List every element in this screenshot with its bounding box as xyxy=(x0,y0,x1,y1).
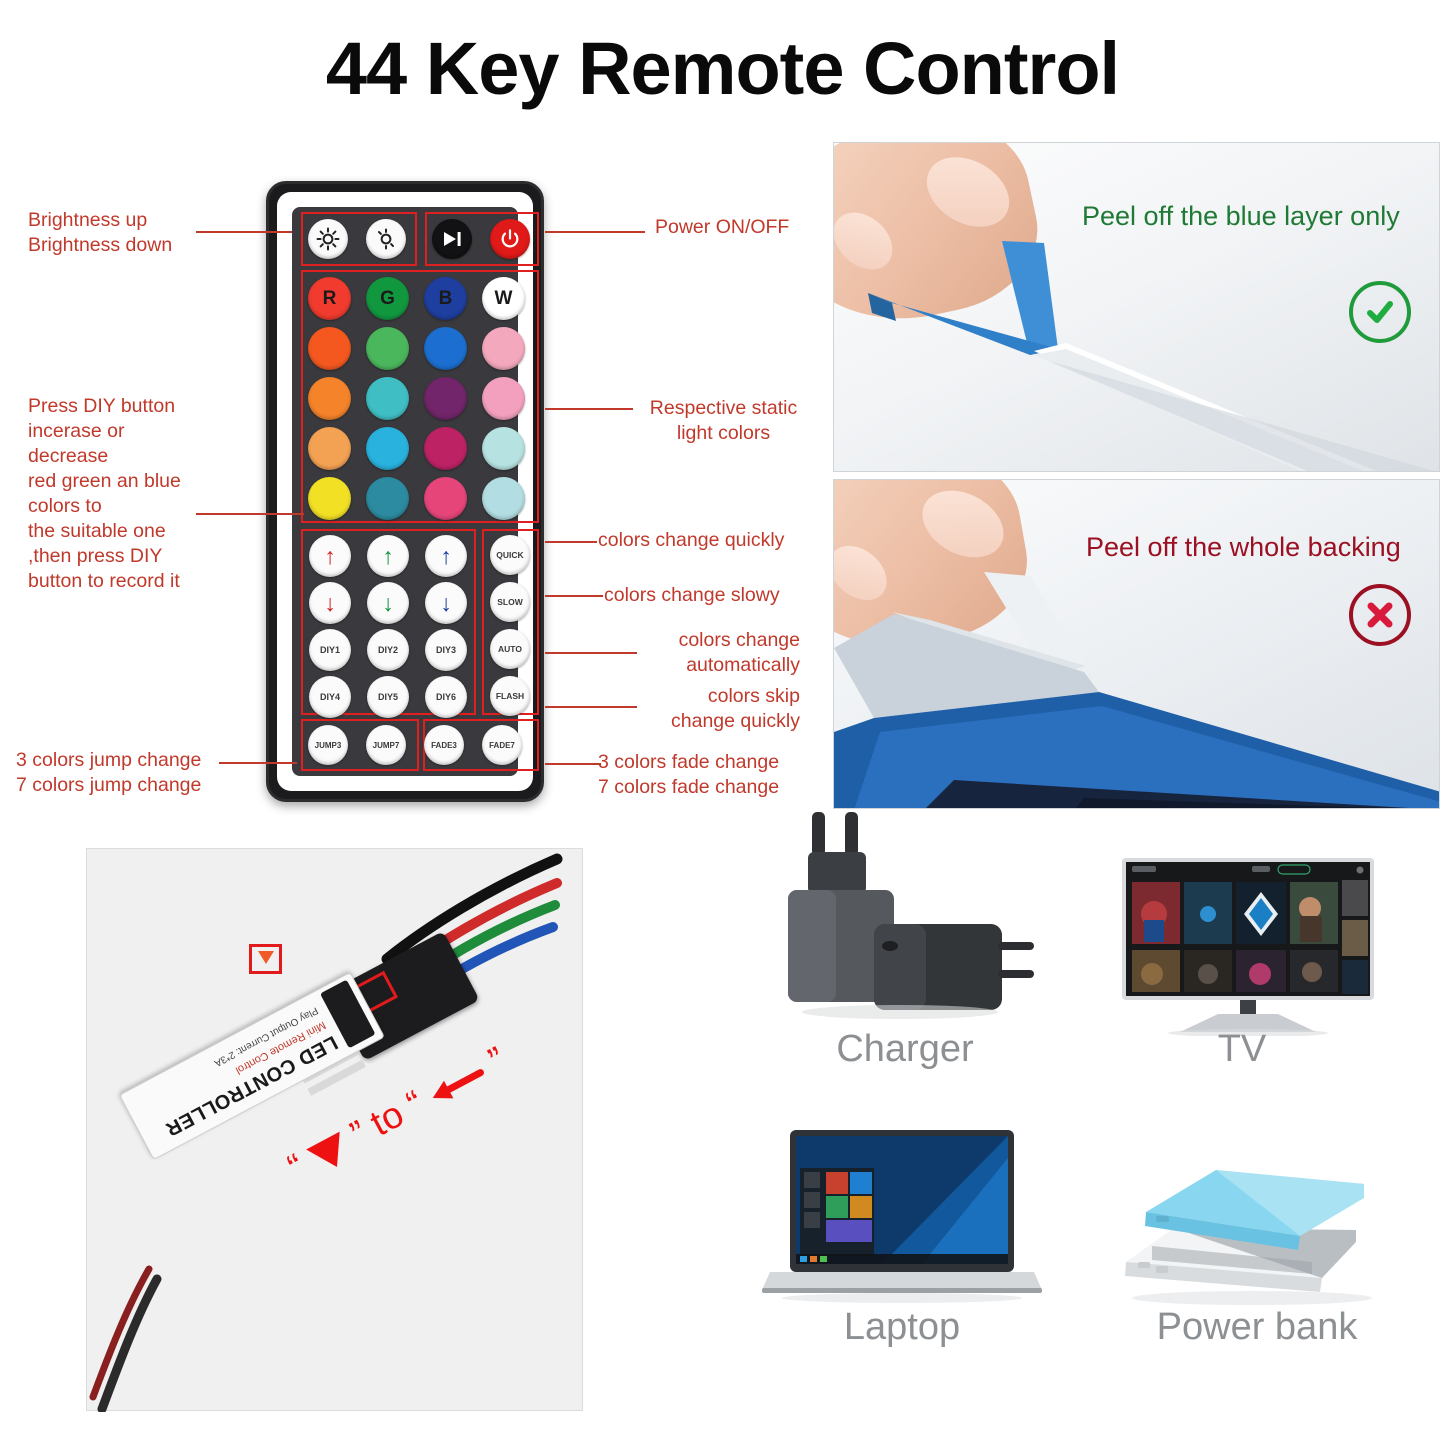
annotation-power: Power ON/OFF xyxy=(655,215,789,240)
panel-caption-blue: Peel off the blue layer only xyxy=(1082,201,1400,232)
color-button-r3c3[interactable] xyxy=(424,377,467,420)
remote-keypad-face: RGBW ↑↑↑↓↓↓DIY1DIY2DIY3DIY4DIY5DIY6 QUIC… xyxy=(292,207,518,776)
mode-button-slow[interactable]: SLOW xyxy=(490,582,530,622)
arrow-button-up-3[interactable]: ↑ xyxy=(425,535,467,577)
color-button-r4c4[interactable] xyxy=(482,427,525,470)
annotation-static: Respective static light colors xyxy=(636,396,811,446)
remote-inner-frame: RGBW ↑↑↑↓↓↓DIY1DIY2DIY3DIY4DIY5DIY6 QUIC… xyxy=(277,192,533,791)
device-label-laptop: Laptop xyxy=(762,1306,1042,1349)
arrow-down-icon: ↓ xyxy=(382,592,394,615)
diy-button-diy1[interactable]: DIY1 xyxy=(309,629,351,671)
leader-flash xyxy=(545,706,637,708)
leader-diy xyxy=(196,513,304,515)
annotation-auto: colors change automatically xyxy=(620,628,800,678)
device-label-powerbank: Power bank xyxy=(1112,1306,1402,1349)
color-button-r[interactable]: R xyxy=(308,277,351,320)
play-pause-icon xyxy=(441,229,463,249)
mode-button-auto[interactable]: AUTO xyxy=(490,629,530,669)
brightness-up-button[interactable] xyxy=(308,219,348,259)
color-button-r4c3[interactable] xyxy=(424,427,467,470)
mode-button-fade3[interactable]: FADE3 xyxy=(424,725,464,765)
arrow-up-icon: ↑ xyxy=(440,545,452,568)
device-label-tv: TV xyxy=(1092,1028,1392,1071)
leader-auto xyxy=(545,652,637,654)
arrow-button-down-2[interactable]: ↓ xyxy=(367,582,409,624)
diy-button-diy3[interactable]: DIY3 xyxy=(425,629,467,671)
color-button-r2c1[interactable] xyxy=(308,327,351,370)
mode-button-flash[interactable]: FLASH xyxy=(490,676,530,716)
color-button-g[interactable]: G xyxy=(366,277,409,320)
diy-button-diy2[interactable]: DIY2 xyxy=(367,629,409,671)
color-button-r3c4[interactable] xyxy=(482,377,525,420)
mode-button-jump7[interactable]: JUMP7 xyxy=(366,725,406,765)
leader-static xyxy=(545,408,633,410)
arrow-down-icon: ↓ xyxy=(440,592,452,615)
check-mark-icon xyxy=(1349,281,1411,343)
leader-slow xyxy=(545,595,603,597)
annotation-flash: colors skip change quickly xyxy=(620,684,800,734)
leader-jump xyxy=(219,762,297,764)
color-button-label: W xyxy=(495,288,513,310)
diy-button-diy6[interactable]: DIY6 xyxy=(425,676,467,718)
arrow-button-up-1[interactable]: ↑ xyxy=(309,535,351,577)
annotation-quick: colors change quickly xyxy=(598,528,784,553)
leader-power xyxy=(545,231,645,233)
color-button-r3c2[interactable] xyxy=(366,377,409,420)
brightness-down-button[interactable] xyxy=(366,219,406,259)
whole-backing-graphic xyxy=(834,480,1440,809)
peel-blue-layer-panel: Peel off the blue layer only xyxy=(833,142,1440,472)
color-button-b[interactable]: B xyxy=(424,277,467,320)
mode-button-fade7[interactable]: FADE7 xyxy=(482,725,522,765)
infographic-page: 44 Key Remote Control xyxy=(0,0,1445,1445)
arrow-up-icon: ↑ xyxy=(382,545,394,568)
color-button-r2c2[interactable] xyxy=(366,327,409,370)
color-button-r4c1[interactable] xyxy=(308,427,351,470)
leader-quick xyxy=(545,541,597,543)
color-button-r2c4[interactable] xyxy=(482,327,525,370)
play-pause-button[interactable] xyxy=(432,219,472,259)
power-bank-image xyxy=(1112,1150,1402,1310)
arrow-down-icon: ↓ xyxy=(324,592,336,615)
color-button-r5c1[interactable] xyxy=(308,477,351,520)
color-button-r2c3[interactable] xyxy=(424,327,467,370)
power-button[interactable] xyxy=(490,219,530,259)
remote-control: RGBW ↑↑↑↓↓↓DIY1DIY2DIY3DIY4DIY5DIY6 QUIC… xyxy=(266,181,544,802)
laptop-image xyxy=(762,1128,1042,1304)
leader-fade xyxy=(545,763,601,765)
leader-brightness xyxy=(196,231,292,233)
brightness-down-icon xyxy=(374,227,398,251)
arrow-button-up-2[interactable]: ↑ xyxy=(367,535,409,577)
color-button-r5c2[interactable] xyxy=(366,477,409,520)
color-button-w[interactable]: W xyxy=(482,277,525,320)
color-button-label: B xyxy=(439,288,453,310)
cross-mark-icon xyxy=(1349,584,1411,646)
color-button-r4c2[interactable] xyxy=(366,427,409,470)
diy-button-diy4[interactable]: DIY4 xyxy=(309,676,351,718)
annotation-diy: Press DIY button incerase or decrease re… xyxy=(28,394,268,594)
arrow-button-down-1[interactable]: ↓ xyxy=(309,582,351,624)
brightness-up-icon xyxy=(316,227,340,251)
charger-image xyxy=(770,812,1040,1020)
device-label-charger: Charger xyxy=(770,1028,1040,1071)
diy-button-diy5[interactable]: DIY5 xyxy=(367,676,409,718)
mode-button-quick[interactable]: QUICK xyxy=(490,535,530,575)
annotation-brightness: Brightness up Brightness down xyxy=(28,208,258,258)
annotation-jump: 3 colors jump change 7 colors jump chang… xyxy=(16,748,266,798)
power-icon xyxy=(499,228,521,250)
peel-whole-backing-panel: Peel off the whole backing xyxy=(833,479,1440,809)
tv-image xyxy=(1092,856,1392,1036)
annotation-slow: colors change slowy xyxy=(604,583,780,608)
ir-led-triangle-icon xyxy=(258,951,274,964)
color-button-label: G xyxy=(380,288,395,310)
annotation-fade: 3 colors fade change 7 colors fade chang… xyxy=(598,750,779,800)
mode-button-jump3[interactable]: JUMP3 xyxy=(308,725,348,765)
controller-panel: LED CONTROLLER Mini Remote Control Play … xyxy=(86,848,583,1411)
arrow-up-icon: ↑ xyxy=(324,545,336,568)
arrow-button-down-3[interactable]: ↓ xyxy=(425,582,467,624)
color-button-r5c3[interactable] xyxy=(424,477,467,520)
color-button-label: R xyxy=(323,288,337,310)
page-title: 44 Key Remote Control xyxy=(0,26,1445,111)
color-button-r5c4[interactable] xyxy=(482,477,525,520)
color-button-r3c1[interactable] xyxy=(308,377,351,420)
panel-caption-backing: Peel off the whole backing xyxy=(1086,532,1401,563)
